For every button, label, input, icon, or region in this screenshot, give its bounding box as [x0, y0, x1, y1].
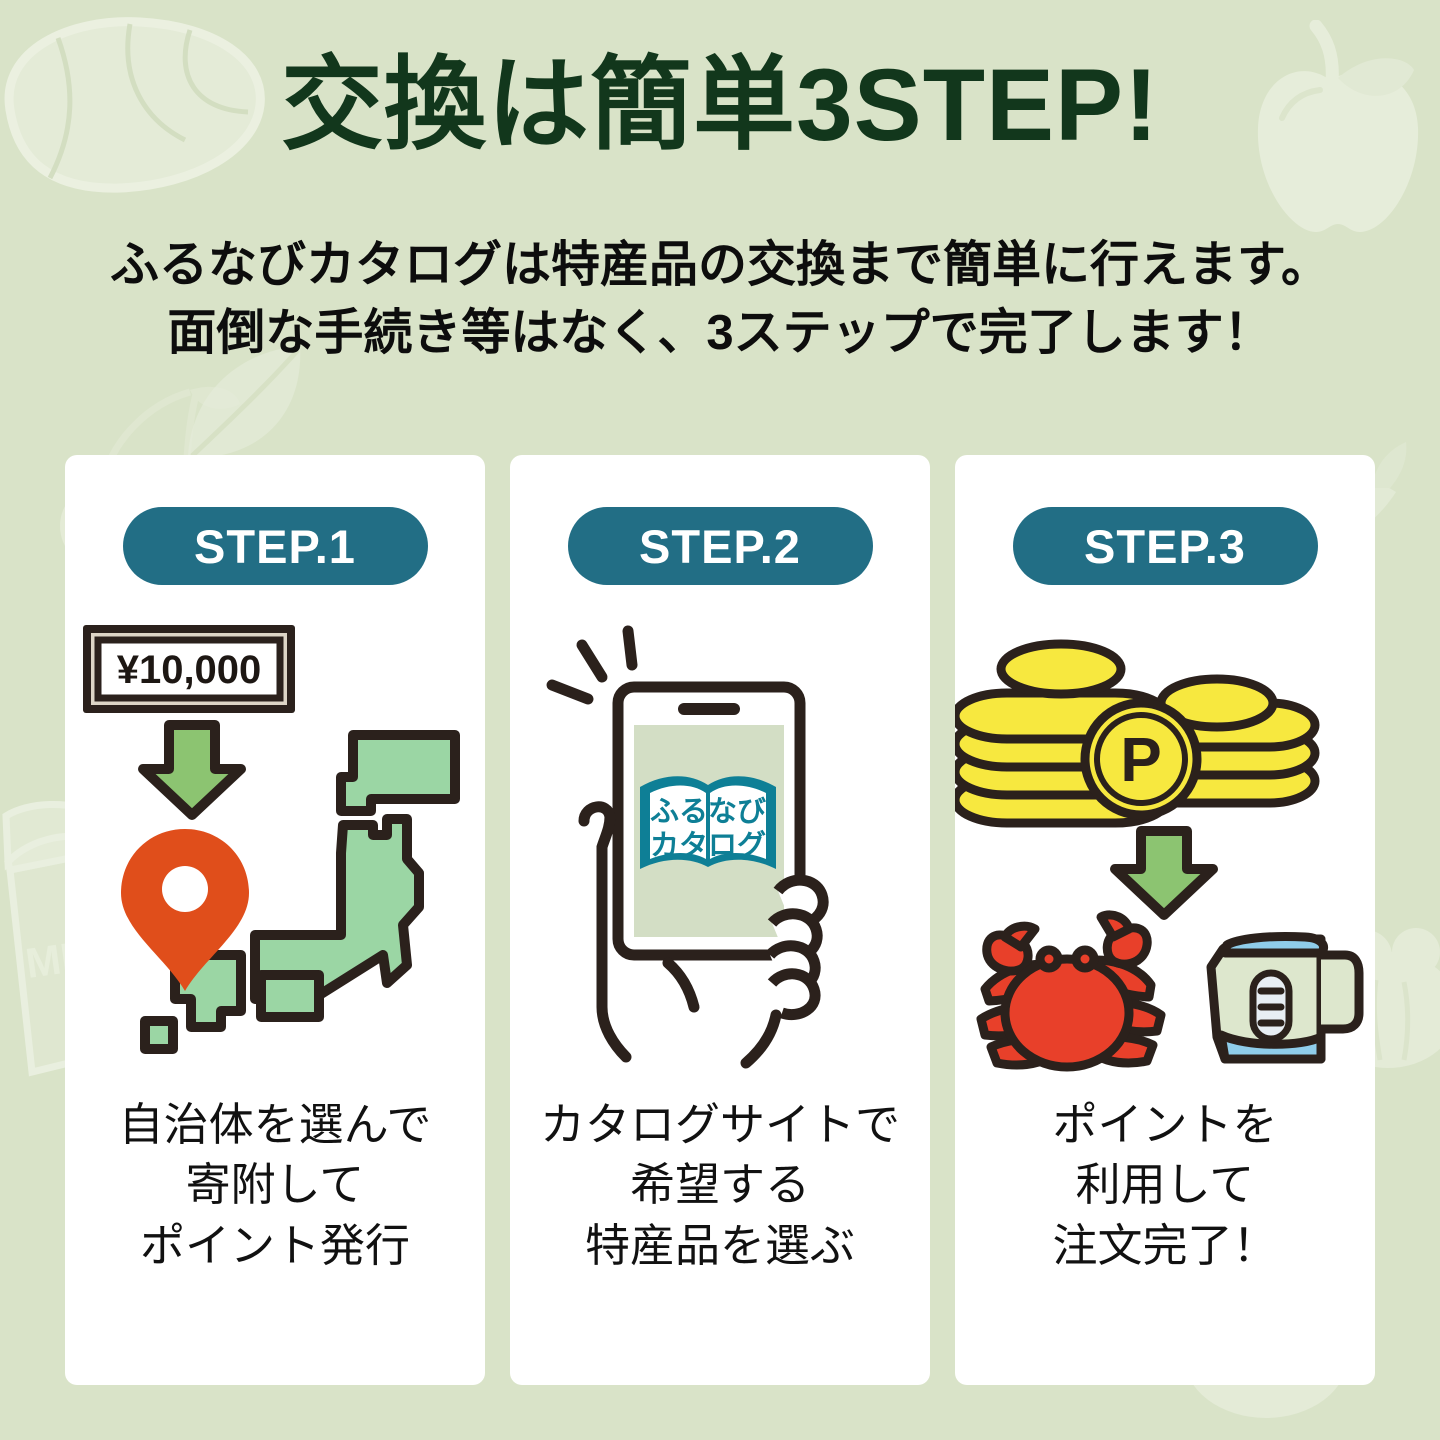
down-arrow-icon — [1115, 831, 1213, 915]
step-1-caption: 自治体を選んで 寄附して ポイント発行 — [119, 1095, 432, 1276]
step-2-caption-line-2: 希望する — [540, 1155, 900, 1215]
page-subtitle-line-2: 面倒な手続き等はなく、3ステップで完了します！ — [0, 300, 1440, 368]
kettle-icon — [1211, 936, 1359, 1059]
step-1-caption-line-2: 寄附して — [119, 1155, 432, 1215]
step-card-1[interactable]: STEP.1 ¥10,000 — [65, 455, 485, 1385]
point-coin-icon: P — [1085, 703, 1197, 815]
step-2-caption-line-3: 特産品を選ぶ — [540, 1216, 900, 1276]
catalog-logo-line-2: カタログ — [650, 829, 766, 862]
step-2-caption: カタログサイトで 希望する 特産品を選ぶ — [540, 1095, 900, 1276]
catalog-logo-line-1: ふるなび — [650, 795, 766, 828]
steps-container: STEP.1 ¥10,000 — [65, 455, 1375, 1385]
step-badge-1: STEP.1 — [123, 507, 428, 585]
step-3-caption-line-1: ポイントを — [1052, 1095, 1277, 1155]
step-badge-2: STEP.2 — [568, 507, 873, 585]
step-3-caption-line-2: 利用して — [1052, 1155, 1277, 1215]
point-coin-label: P — [1120, 726, 1161, 795]
banknote-amount-label: ¥10,000 — [117, 648, 262, 692]
step-2-caption-line-1: カタログサイトで — [540, 1095, 900, 1155]
step-3-caption: ポイントを 利用して 注文完了！ — [1052, 1095, 1277, 1276]
step-1-caption-line-3: ポイント発行 — [119, 1216, 432, 1276]
hand-holding-phone-icon — [584, 687, 823, 1063]
catalog-book-logo-icon: ふるなび カタログ — [640, 776, 776, 869]
step-1-caption-line-1: 自治体を選んで — [119, 1095, 432, 1155]
page-title-container: 交換は簡単3STEP! — [0, 52, 1440, 159]
down-arrow-icon — [143, 725, 241, 815]
step-3-illustration: P — [955, 607, 1375, 1077]
step-badge-3: STEP.3 — [1013, 507, 1318, 585]
step-card-2[interactable]: STEP.2 — [510, 455, 930, 1385]
page-subtitle-container: ふるなびカタログは特産品の交換まで簡単に行えます。 面倒な手続き等はなく、3ステ… — [0, 232, 1440, 367]
step-3-caption-line-3: 注文完了！ — [1052, 1216, 1277, 1276]
step-2-illustration: ふるなび カタログ — [510, 607, 930, 1077]
banknote-icon: ¥10,000 — [83, 625, 295, 713]
step-1-illustration: ¥10,000 — [65, 607, 485, 1077]
crab-icon — [981, 915, 1161, 1067]
step-card-3[interactable]: STEP.3 — [955, 455, 1375, 1385]
page-subtitle-line-1: ふるなびカタログは特産品の交換まで簡単に行えます。 — [0, 232, 1440, 300]
page-title: 交換は簡単3STEP! — [0, 52, 1440, 159]
